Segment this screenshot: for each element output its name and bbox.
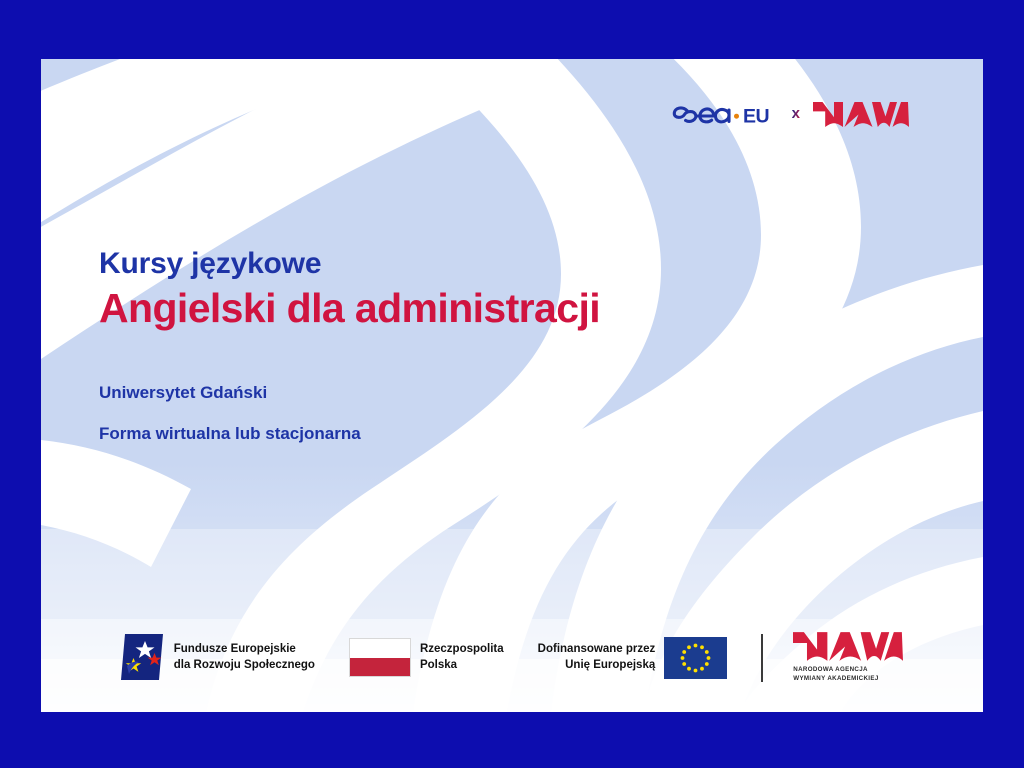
poland-flag-white-band (350, 639, 410, 658)
lockup-separator-x: x (792, 106, 800, 123)
sea-eu-logo: EU (671, 102, 779, 128)
eyebrow-text: Kursy językowe (99, 248, 839, 280)
nawa-caption: NARODOWA AGENCJA WYMIANY AKADEMICKIEJ (793, 666, 878, 684)
fundusze-europejskie-label: Fundusze Europejskie dla Rozwoju Społecz… (174, 642, 315, 673)
meta-info-block: Uniwersytet Gdański Forma wirtualna lub … (99, 384, 361, 443)
funding-logo-bar: Fundusze Europejskie dla Rozwoju Społecz… (41, 631, 983, 684)
funding-item-dofinansowane-ue: Dofinansowane przez Unię Europejską (538, 637, 728, 679)
rzeczpospolita-line-1: Rzeczpospolita (420, 642, 504, 658)
meta-format: Forma wirtualna lub stacjonarna (99, 425, 361, 444)
sea-eu-logo-icon: EU (671, 102, 779, 128)
poster-frame: EU x (0, 0, 1024, 768)
eu-flag-icon (664, 637, 727, 679)
nawa-caption-line-1: NARODOWA AGENCJA (793, 666, 878, 675)
dofinansowane-line-2: Unię Europejską (538, 658, 656, 674)
svg-text:EU: EU (743, 105, 769, 127)
rzeczpospolita-polska-label: Rzeczpospolita Polska (420, 642, 504, 673)
funding-item-rzeczpospolita-polska: Rzeczpospolita Polska (349, 638, 504, 677)
poster-card: EU x (41, 59, 983, 712)
nawa-caption-line-2: WYMIANY AKADEMICKIEJ (793, 675, 878, 684)
fundusze-line-2: dla Rozwoju Społecznego (174, 658, 315, 674)
poland-flag-icon (349, 638, 411, 677)
sea-eu-dot-icon (734, 113, 739, 118)
headline-block: Kursy językowe Angielski dla administrac… (99, 248, 839, 331)
page-title: Angielski dla administracji (99, 286, 839, 331)
fundusze-line-1: Fundusze Europejskie (174, 642, 315, 658)
fundusze-europejskie-icon (121, 632, 165, 684)
partner-logo-lockup: EU x (671, 101, 909, 128)
nawa-footer-logo-icon (793, 631, 903, 662)
poland-flag-red-band (350, 658, 410, 677)
funding-item-fundusze-europejskie: Fundusze Europejskie dla Rozwoju Społecz… (121, 632, 315, 684)
nawa-logo-icon (813, 101, 909, 128)
rzeczpospolita-line-2: Polska (420, 658, 504, 674)
funding-bar-divider (761, 634, 763, 682)
funding-item-nawa: NARODOWA AGENCJA WYMIANY AKADEMICKIEJ (793, 631, 903, 684)
dofinansowane-line-1: Dofinansowane przez (538, 642, 656, 658)
meta-institution: Uniwersytet Gdański (99, 384, 361, 403)
dofinansowane-ue-label: Dofinansowane przez Unię Europejską (538, 642, 656, 673)
nawa-logo (813, 101, 909, 128)
